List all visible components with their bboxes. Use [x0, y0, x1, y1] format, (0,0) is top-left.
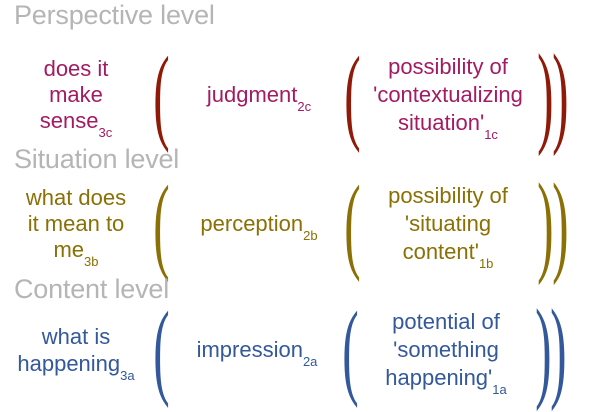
- right-phrase-text-situation: possibility of 'situating content': [388, 183, 508, 264]
- left-phrase-situation: what does it mean to me3b: [0, 185, 152, 263]
- left-phrase-subscript-perspective: 3c: [98, 125, 112, 140]
- open-paren-inner-content: (: [342, 296, 356, 403]
- right-phrase-subscript-perspective: 1c: [484, 127, 498, 142]
- level-block-content: Content level what is happening3a ( impr…: [0, 274, 600, 400]
- middle-term-content: impression2a: [173, 337, 341, 363]
- right-phrase-text-perspective: possibility of 'contextualizing situatio…: [373, 54, 523, 135]
- left-phrase-content: what is happening3a: [0, 323, 152, 377]
- diagram-canvas: Perspective level does it make sense3c (…: [0, 0, 600, 400]
- level-row-content: what is happening3a ( impression2a ( pot…: [0, 304, 600, 396]
- middle-term-subscript-perspective: 2c: [297, 99, 311, 114]
- close-paren-inner-perspective: ): [537, 38, 550, 151]
- right-phrase-situation: possibility of 'situating content'1b: [360, 182, 536, 266]
- middle-term-subscript-content: 2a: [303, 354, 317, 369]
- level-row-situation: what does it mean to me3b ( perception2b…: [0, 176, 600, 272]
- level-header-content: Content level: [14, 274, 169, 304]
- left-phrase-text-perspective: does it make sense: [40, 56, 109, 133]
- right-phrase-perspective: possibility of 'contextualizing situatio…: [360, 53, 536, 137]
- level-block-perspective: Perspective level does it make sense3c (…: [0, 0, 600, 144]
- left-phrase-subscript-content: 3a: [120, 368, 134, 383]
- left-phrase-perspective: does it make sense3c: [0, 56, 152, 134]
- middle-term-subscript-situation: 2b: [303, 228, 317, 243]
- level-header-perspective: Perspective level: [14, 0, 215, 30]
- close-paren-outer-content: ): [550, 293, 563, 406]
- middle-term-perspective: judgment2c: [175, 82, 343, 108]
- middle-term-text-perspective: judgment: [207, 82, 298, 107]
- left-phrase-subscript-situation: 3b: [84, 254, 98, 269]
- open-paren-outer-situation: (: [153, 170, 167, 277]
- right-phrase-subscript-content: 1a: [492, 382, 506, 397]
- open-paren-outer-content: (: [153, 296, 167, 403]
- middle-term-text-content: impression: [197, 337, 303, 362]
- open-paren-outer-perspective: (: [153, 41, 167, 148]
- close-paren-outer-perspective: ): [552, 38, 565, 151]
- middle-term-situation: perception2b: [175, 211, 343, 237]
- close-paren-inner-situation: ): [537, 167, 550, 280]
- close-paren-outer-situation: ): [552, 167, 565, 280]
- open-paren-inner-perspective: (: [344, 41, 358, 148]
- right-phrase-content: potential of 'something happening'1a: [358, 308, 534, 392]
- level-row-perspective: does it make sense3c ( judgment2c ( poss…: [0, 45, 600, 144]
- close-paren-inner-content: ): [535, 293, 548, 406]
- right-phrase-subscript-situation: 1b: [479, 256, 493, 271]
- middle-term-text-situation: perception: [200, 211, 303, 236]
- right-phrase-text-content: potential of 'something happening': [385, 309, 500, 390]
- left-phrase-text-content: what is happening: [17, 324, 120, 376]
- level-block-situation: Situation level what does it mean to me3…: [0, 144, 600, 274]
- left-phrase-text-situation: what does it mean to me: [26, 185, 126, 262]
- open-paren-inner-situation: (: [344, 170, 358, 277]
